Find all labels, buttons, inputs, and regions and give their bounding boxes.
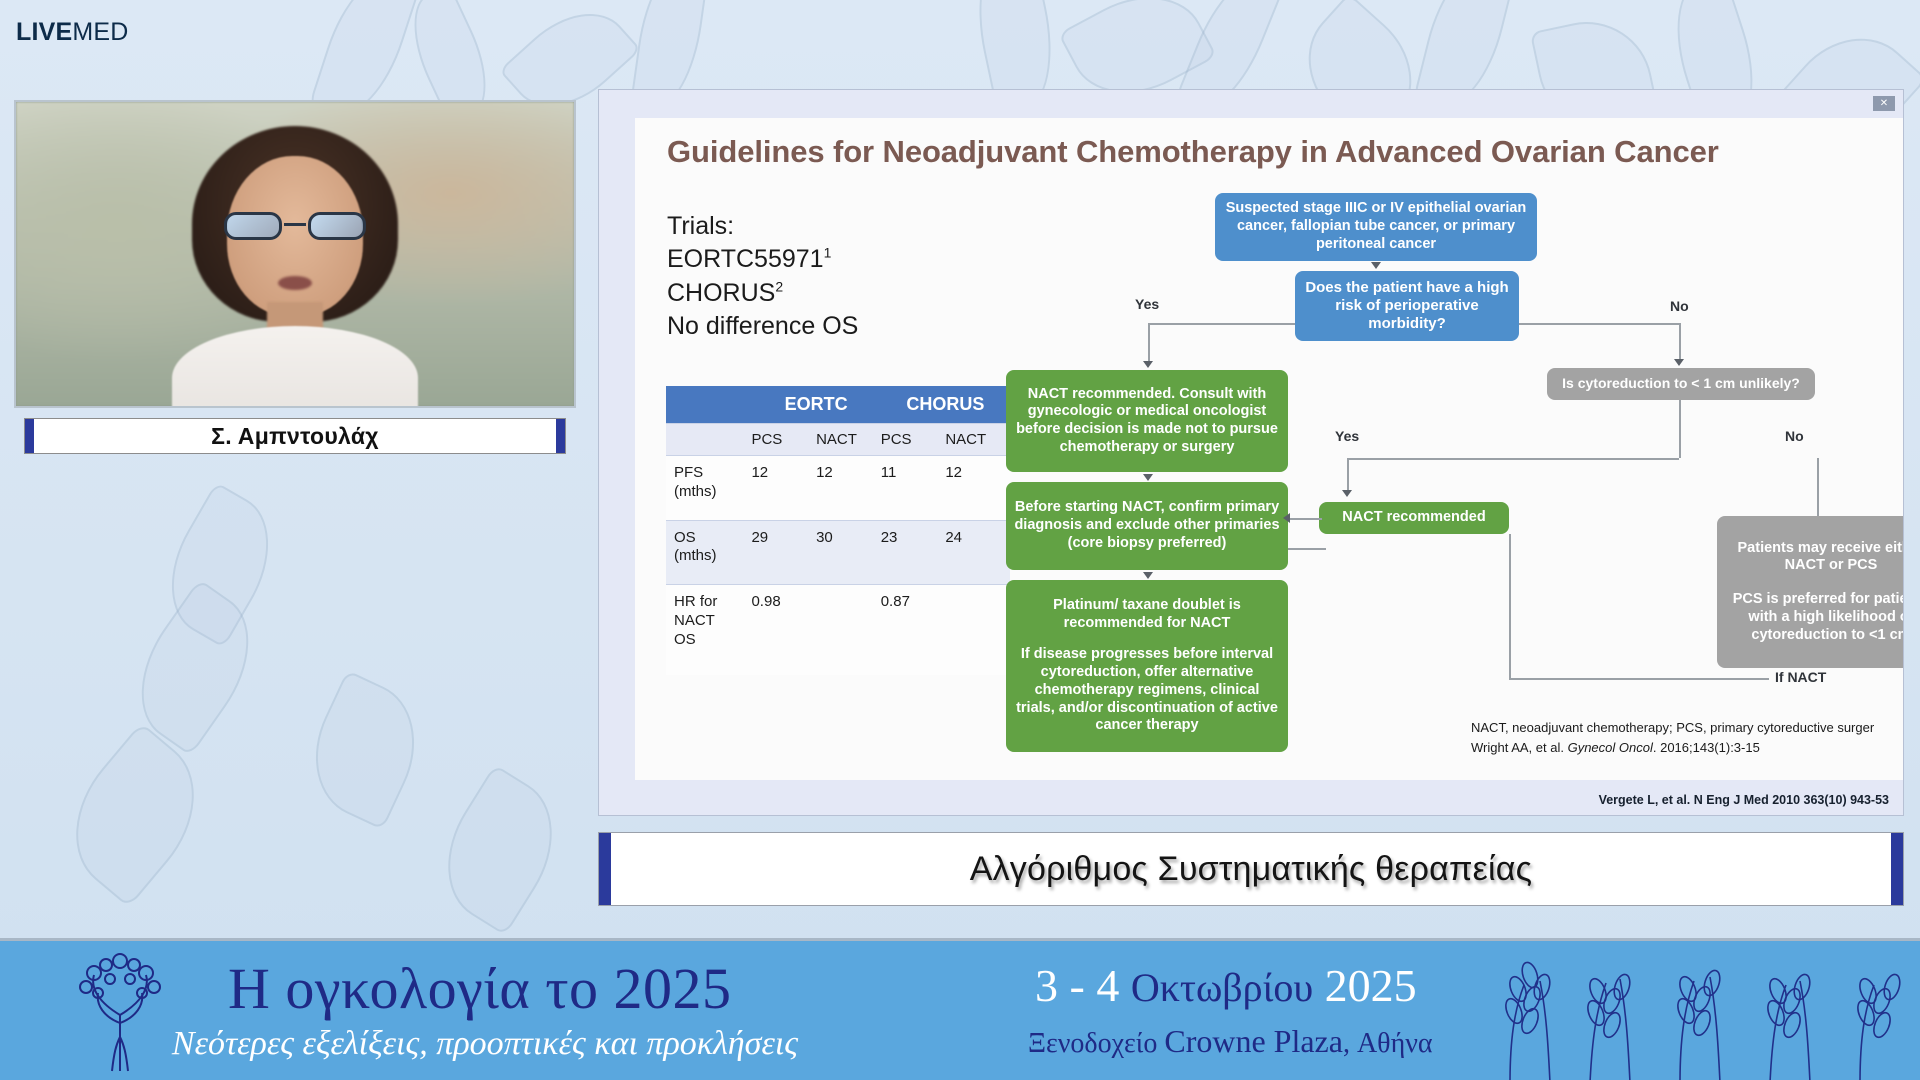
slide-content: Guidelines for Neoadjuvant Chemotherapy … bbox=[635, 118, 1903, 780]
caption-text: Αλγόριθμος Συστηματικής θεραπείας bbox=[970, 850, 1533, 889]
slide-footnote: NACT, neoadjuvant chemotherapy; PCS, pri… bbox=[1471, 718, 1874, 758]
livemed-logo: LIVEMED bbox=[16, 18, 129, 47]
flow-box-platinum-line2: If disease progresses before interval cy… bbox=[1014, 646, 1280, 734]
flow-box-platinum-line1: Platinum/ taxane doublet is recommended … bbox=[1014, 597, 1280, 632]
flow-label-yes-top: Yes bbox=[1135, 296, 1159, 312]
speaker-figure bbox=[170, 126, 420, 408]
treatment-algorithm-flowchart: Suspected stage IIIC or IV epithelial ov… bbox=[635, 118, 1903, 780]
footnote-abbrev: NACT, neoadjuvant chemotherapy; PCS, pri… bbox=[1471, 718, 1874, 738]
speaker-name: Σ. Αμπντουλάχ bbox=[211, 423, 379, 450]
flow-box-platinum-taxane: Platinum/ taxane doublet is recommended … bbox=[1006, 580, 1288, 752]
slide-bottom-citation: Vergete L, et al. N Eng J Med 2010 363(1… bbox=[1599, 793, 1889, 807]
close-icon[interactable]: ✕ bbox=[1873, 96, 1895, 111]
flow-box-suspected-stage: Suspected stage IIIC or IV epithelial ov… bbox=[1215, 193, 1537, 261]
flow-box-either-line2: PCS is preferred for patients with a hig… bbox=[1725, 591, 1903, 644]
flow-label-if-nact: If NACT bbox=[1775, 669, 1826, 685]
flow-box-before-starting-nact: Before starting NACT, confirm primary di… bbox=[1006, 482, 1288, 570]
logo-med: MED bbox=[72, 18, 128, 46]
flow-box-perioperative-risk-question: Does the patient have a high risk of per… bbox=[1295, 271, 1519, 341]
flow-label-no-top: No bbox=[1670, 298, 1689, 314]
logo-live: LIVE bbox=[16, 18, 72, 46]
torso-shape bbox=[172, 326, 418, 408]
slide-window[interactable]: ✕ Guidelines for Neoadjuvant Chemotherap… bbox=[598, 89, 1904, 816]
flow-label-no-mid: No bbox=[1785, 428, 1804, 444]
glasses-icon bbox=[224, 212, 366, 242]
flow-box-either-nact-or-pcs: Patients may receive either NACT or PCS … bbox=[1717, 516, 1903, 668]
speaker-video[interactable] bbox=[14, 100, 576, 408]
wheat-decoration-icon bbox=[1480, 941, 1910, 1080]
flow-label-yes-mid: Yes bbox=[1335, 428, 1359, 444]
flow-box-nact-recommended: NACT recommended bbox=[1319, 502, 1509, 534]
banner-venue: Ξενοδοχείο Crowne Plaza, Αθήνα bbox=[1028, 1023, 1433, 1060]
banner-title: Η ογκολογία το 2025 bbox=[228, 955, 732, 1022]
slide-caption-bar: Αλγόριθμος Συστηματικής θεραπείας bbox=[598, 832, 1904, 906]
mouth-shape bbox=[278, 276, 312, 290]
flow-box-either-line1: Patients may receive either NACT or PCS bbox=[1725, 540, 1903, 575]
flow-box-nact-recommended-consult: NACT recommended. Consult with gynecolog… bbox=[1006, 370, 1288, 472]
speaker-name-plate: Σ. Αμπντουλάχ bbox=[24, 418, 566, 454]
footnote-reference: Wright AA, et al. Gynecol Oncol. 2016;14… bbox=[1471, 738, 1874, 758]
flow-box-cytoreduction-question: Is cytoreduction to < 1 cm unlikely? bbox=[1547, 368, 1815, 400]
banner-date: 3 - 4 Οκτωβρίου 2025 bbox=[1035, 959, 1417, 1012]
banner-subtitle: Νεότερες εξελίξεις, προοπτικές και προκλ… bbox=[60, 1025, 910, 1063]
event-banner: Η ογκολογία το 2025 Νεότερες εξελίξεις, … bbox=[0, 938, 1920, 1080]
